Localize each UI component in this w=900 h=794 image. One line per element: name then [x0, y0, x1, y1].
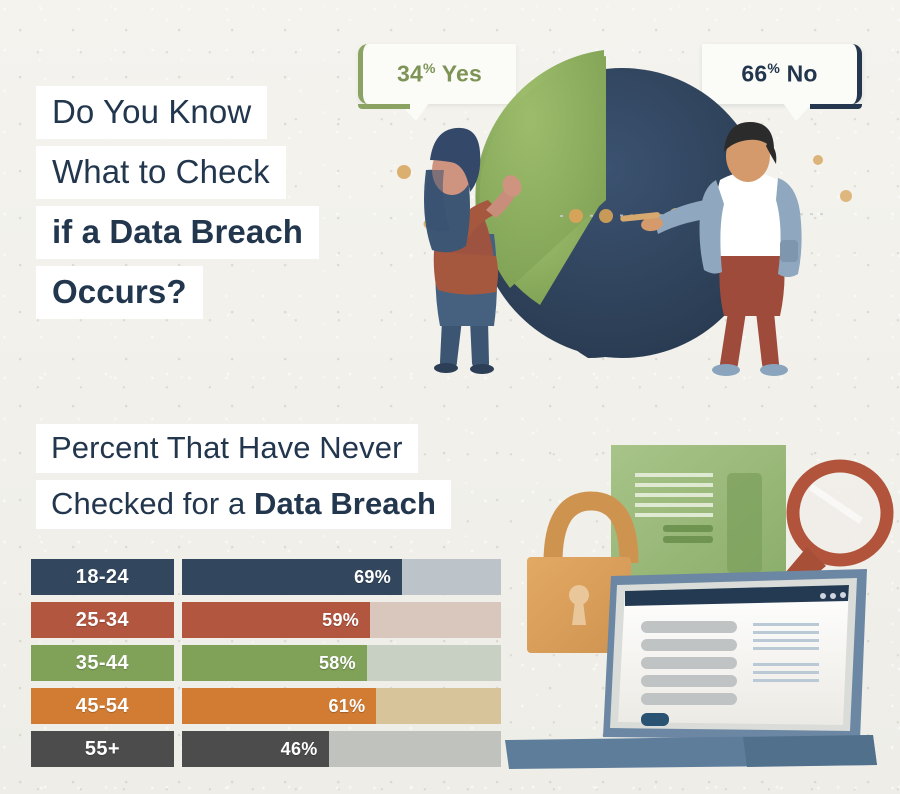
bar-row: 35-4458% [31, 645, 501, 681]
bar-category-label: 35-44 [31, 645, 174, 681]
bar-value-label: 58% [319, 653, 356, 674]
bar-category-label: 18-24 [31, 559, 174, 595]
bar-category-label: 45-54 [31, 688, 174, 724]
bar-row: 25-3459% [31, 602, 501, 638]
headline-line-3: if a Data Breach [36, 206, 319, 259]
bar-value-label: 69% [354, 567, 391, 588]
connector-dot [599, 209, 613, 223]
headline-line-1: Do You Know [36, 86, 267, 139]
bar-fill: 46% [182, 731, 329, 767]
pie-chart-illustration [390, 20, 860, 380]
bar-row: 55+46% [31, 731, 501, 767]
bar-value-label: 46% [281, 739, 318, 760]
bar-fill: 69% [182, 559, 402, 595]
decor-dot [813, 155, 823, 165]
bar-fill: 61% [182, 688, 377, 724]
bar-track: 69% [182, 559, 501, 595]
bar-value-label: 61% [329, 696, 366, 717]
bar-fill: 59% [182, 602, 370, 638]
security-assets-illustration [505, 435, 900, 780]
page-title: Do You Know What to Check if a Data Brea… [36, 86, 319, 326]
bar-row: 45-5461% [31, 688, 501, 724]
bar-track: 61% [182, 688, 501, 724]
bar-track: 58% [182, 645, 501, 681]
bar-row: 18-2469% [31, 559, 501, 595]
connector-dot [569, 209, 583, 223]
bar-category-label: 25-34 [31, 602, 174, 638]
section-title-line-2: Checked for a Data Breach [36, 480, 451, 529]
bar-value-label: 59% [322, 610, 359, 631]
section-title-line-2-plain: Checked for a [51, 486, 254, 521]
headline-line-2: What to Check [36, 146, 286, 199]
headline-line-4: Occurs? [36, 266, 203, 319]
bar-category-label: 55+ [31, 731, 174, 767]
decor-dot [840, 190, 852, 202]
infographic-canvas: Do You Know What to Check if a Data Brea… [0, 0, 900, 794]
bar-track: 46% [182, 731, 501, 767]
section-title: Percent That Have Never Checked for a Da… [36, 424, 451, 536]
section-title-line-2-bold: Data Breach [254, 486, 436, 521]
bar-track: 59% [182, 602, 501, 638]
bar-chart: 18-2469%25-3459%35-4458%45-5461%55+46% [31, 559, 501, 774]
decor-dot [397, 165, 411, 179]
section-title-line-1: Percent That Have Never [36, 424, 418, 473]
bar-fill: 58% [182, 645, 367, 681]
